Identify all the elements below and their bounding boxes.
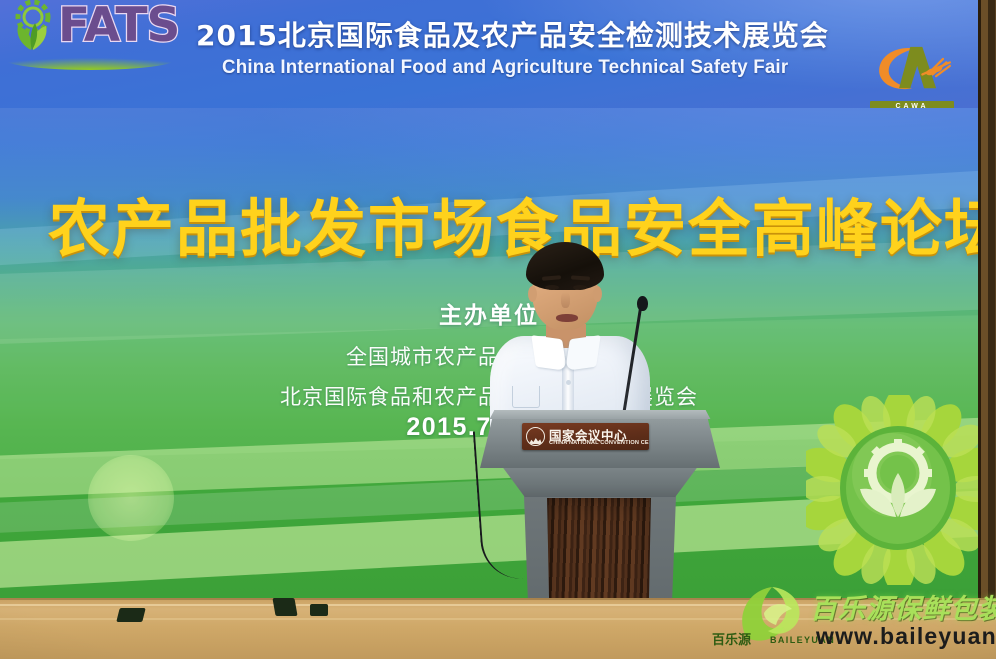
fats-logo: FATS: [2, 0, 180, 74]
watermark-url: www.baileyuan.cn: [816, 623, 996, 650]
speaker-ear-left: [528, 286, 537, 302]
backdrop-header-strip: FATS 2015北京国际食品及农产品安全检测技术展览会 China Inter…: [0, 0, 978, 108]
cawa-wordmark: CAWA: [864, 103, 960, 108]
plaque-text-en: CHINA NATIONAL CONVENTION CENTER: [549, 440, 649, 446]
fair-title-en: China International Food and Agriculture…: [222, 56, 817, 79]
podium-top-edge: [480, 410, 720, 419]
speaker-eye-left: [545, 285, 559, 290]
podium-skirt: [501, 465, 699, 497]
watermark-badge-cn: 百乐源: [712, 629, 751, 648]
mountain-star-icon: [526, 427, 545, 446]
watermark: 百乐源保鲜包装 百乐源 BAILEYUAN www.baileyuan.cn: [700, 583, 996, 657]
fats-swoosh: [4, 48, 176, 70]
fair-title-cn: 2015北京国际食品及农产品安全检测技术展览会: [196, 14, 856, 54]
speaker-eye-right: [573, 285, 587, 290]
fats-wordmark: FATS: [58, 0, 179, 53]
microphone-head: [637, 296, 648, 311]
c-a-wheat-icon: [864, 40, 960, 102]
photograph: FATS 2015北京国际食品及农产品安全检测技术展览会 China Inter…: [0, 0, 996, 659]
floor-object: [116, 608, 145, 622]
speaker-ear-right: [593, 286, 602, 302]
speaker-hair: [526, 242, 604, 290]
speaker-nose: [561, 292, 570, 308]
shirt-pocket: [512, 386, 540, 408]
watermark-brand-cn: 百乐源保鲜包装: [810, 587, 996, 626]
shirt-collar-right: [565, 335, 601, 371]
podium-plaque: 国家会议中心 CHINA NATIONAL CONVENTION CENTER: [522, 423, 649, 450]
cawa-logo: CAWA: [864, 40, 960, 108]
shirt-collar-left: [531, 335, 567, 371]
floor-object: [272, 598, 297, 616]
shirt-button: [566, 380, 571, 385]
speaker-mouth: [556, 314, 578, 322]
green-sunflower-gear-leaf-icon: [806, 395, 978, 585]
floor-object: [310, 604, 328, 616]
